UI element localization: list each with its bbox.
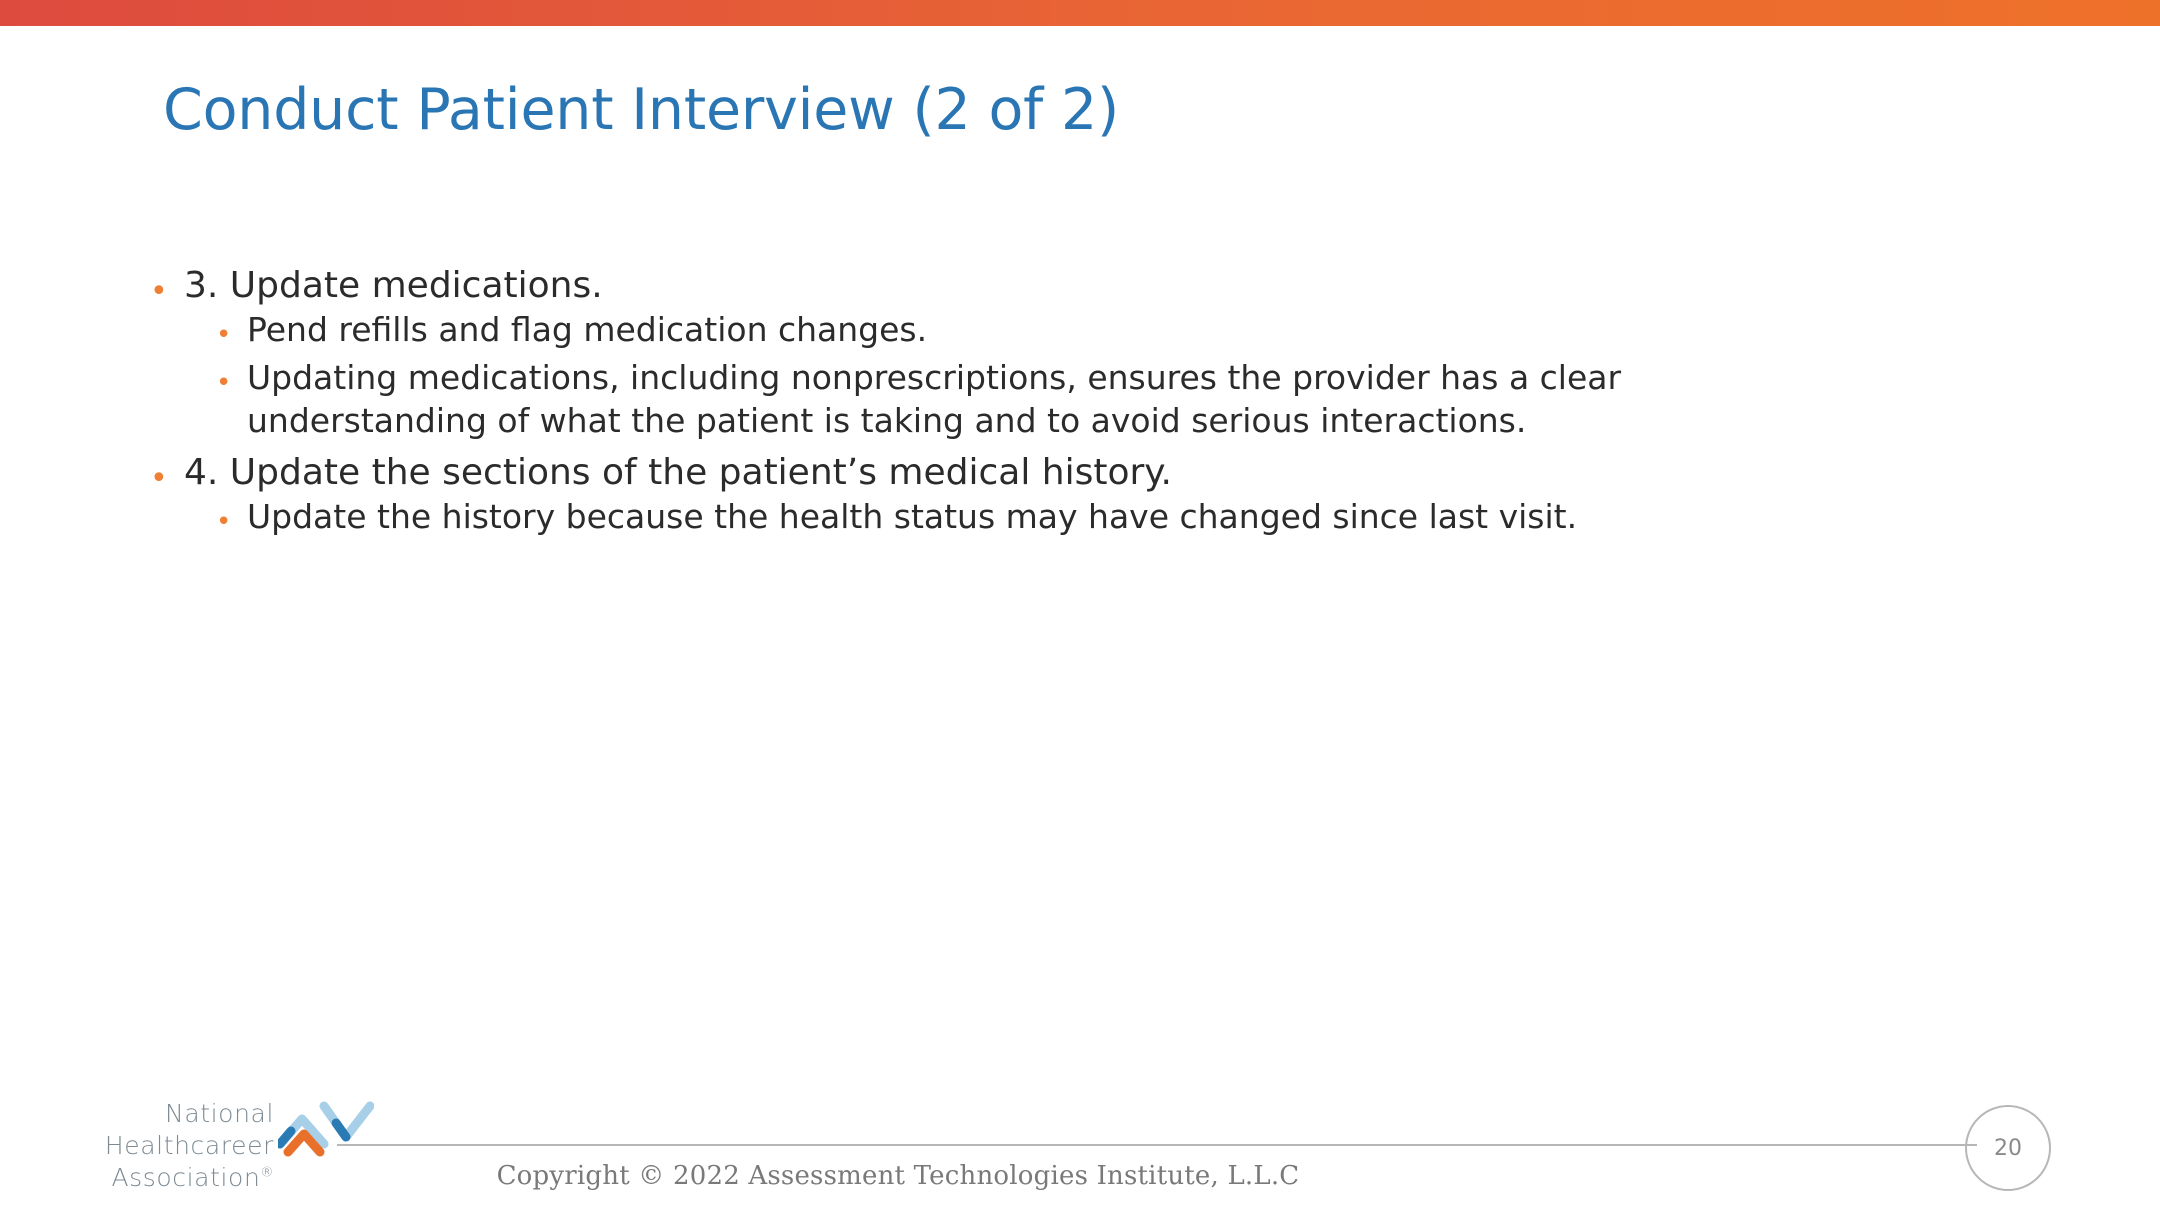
page-number-badge: 20: [1965, 1105, 2051, 1191]
list-item: • Update the history because the health …: [216, 496, 1970, 539]
copyright-label: Copyright © 2022 Assessment Technologies…: [497, 1161, 1300, 1191]
bullet-text: Update the history because the health st…: [247, 496, 1577, 539]
page-title: Conduct Patient Interview (2 of 2): [163, 78, 1963, 144]
nha-logo-line2: Healthcareer: [44, 1130, 274, 1162]
slide-body: • 3. Update medications. • Pend refills …: [150, 262, 1970, 545]
footer-divider: [337, 1144, 1977, 1146]
bullet-list-level1: • 3. Update medications. • Pend refills …: [150, 262, 1970, 539]
bullet-dot-icon: •: [150, 262, 184, 307]
bullet-row: • Update the history because the health …: [216, 496, 1970, 539]
page-number-label: 20: [1994, 1136, 2022, 1161]
bullet-text: 3. Update medications.: [184, 262, 603, 309]
bullet-text: Updating medications, including nonpresc…: [247, 357, 1777, 443]
nha-chevron-logo-icon: [278, 1096, 374, 1162]
bullet-row: • 4. Update the sections of the patient’…: [150, 449, 1970, 496]
nha-logo-line1: National: [44, 1098, 274, 1130]
bullet-dot-icon: •: [216, 496, 247, 535]
bullet-dot-icon: •: [216, 309, 247, 348]
bullet-row: • Updating medications, including nonpre…: [216, 357, 1970, 443]
list-item: • 3. Update medications. • Pend refills …: [150, 262, 1970, 443]
list-item: • Updating medications, including nonpre…: [216, 357, 1970, 443]
copyright-text: Copyright © 2022 Assessment Technologies…: [0, 1161, 2160, 1191]
bullet-text: Pend refills and flag medication changes…: [247, 309, 927, 352]
bullet-text: 4. Update the sections of the patient’s …: [184, 449, 1172, 496]
bullet-list-level2: • Update the history because the health …: [216, 496, 1970, 539]
bullet-dot-icon: •: [150, 449, 184, 494]
nha-logo: National Healthcareer Association®: [44, 1098, 344, 1208]
bullet-dot-icon: •: [216, 357, 247, 396]
bullet-row: • Pend refills and flag medication chang…: [216, 309, 1970, 352]
bullet-list-level2: • Pend refills and flag medication chang…: [216, 309, 1970, 443]
list-item: • 4. Update the sections of the patient’…: [150, 449, 1970, 539]
bullet-row: • 3. Update medications.: [150, 262, 1970, 309]
top-accent-bar: [0, 0, 2160, 26]
list-item: • Pend refills and flag medication chang…: [216, 309, 1970, 352]
